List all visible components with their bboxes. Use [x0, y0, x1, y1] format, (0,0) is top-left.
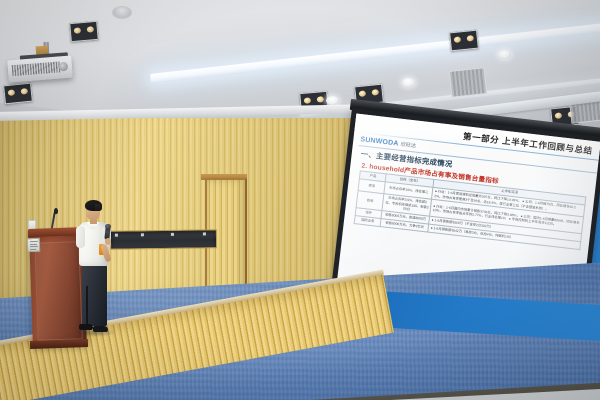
round-downlight-icon: [498, 50, 511, 59]
microphone-head-icon: [105, 224, 111, 229]
presenter-shoe-right: [93, 326, 108, 332]
downlight-icon: [449, 30, 479, 52]
conference-hall-photo: 第一部分 上半年工作回顾与总结 SUNWODA欣旺达 一、主要经营指标完成情况 …: [0, 0, 600, 400]
downlight-icon: [69, 21, 99, 42]
round-downlight-icon: [402, 78, 415, 87]
wall-mounted-panel: [110, 229, 217, 249]
lectern-label: [27, 238, 40, 252]
projector-vent-grill: [12, 61, 61, 76]
lectern-base: [30, 339, 88, 349]
presenter-hair: [85, 200, 102, 211]
smoke-detector-icon: [112, 6, 132, 19]
round-downlight-icon: [326, 96, 339, 105]
slide-logo-cn: 欣旺达: [400, 142, 416, 150]
presenter-shoe-left: [79, 324, 93, 330]
ceiling-air-vent-icon: [449, 67, 488, 98]
presenter: [74, 196, 120, 338]
slide-data-table: 产品 目标（全年） 上半年实况 家用 市场占有率19%、排名第二 ● 行业：1-…: [354, 170, 587, 249]
downlight-icon: [3, 83, 33, 105]
presenter-sleeve-left: [76, 226, 85, 248]
cell-product: 国际业务: [354, 215, 381, 226]
gooseneck-mic-head-icon: [54, 208, 58, 214]
presenter-leg-separation: [86, 286, 88, 326]
presenter-hand-right: [105, 238, 111, 245]
projector-lens-icon: [59, 62, 69, 72]
